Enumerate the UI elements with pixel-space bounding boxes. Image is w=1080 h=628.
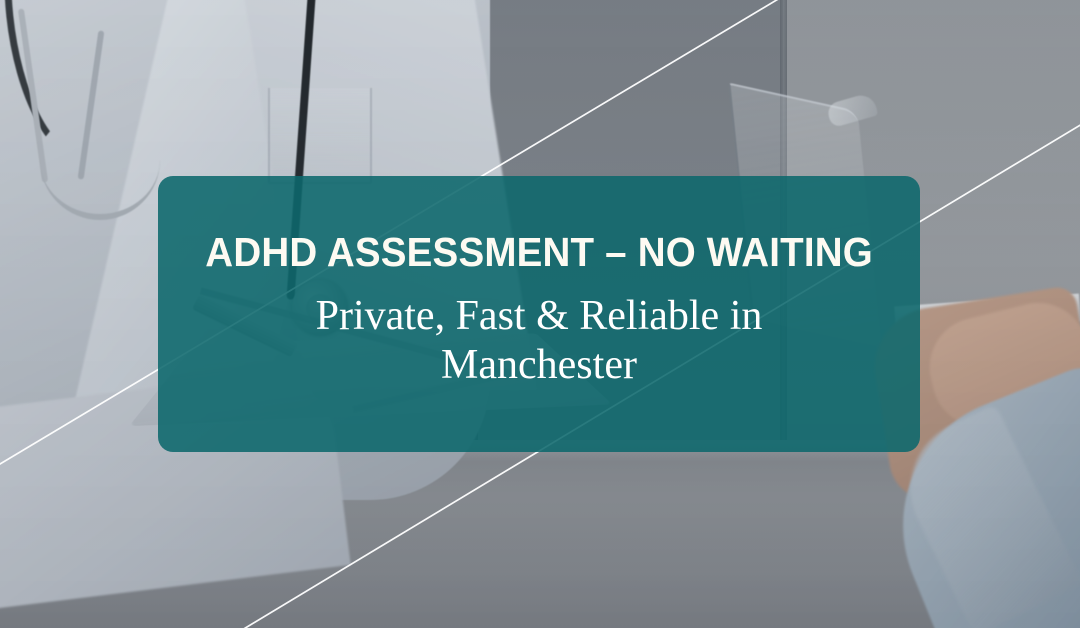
hero-text-panel: ADHD ASSESSMENT – NO WAITING Private, Fa… (158, 176, 920, 452)
coat-pocket (268, 88, 372, 184)
hero-subtitle: Private, Fast & Reliable in Manchester (259, 292, 819, 390)
hero-banner: ADHD ASSESSMENT – NO WAITING Private, Fa… (0, 0, 1080, 628)
hero-title: ADHD ASSESSMENT – NO WAITING (205, 230, 873, 276)
